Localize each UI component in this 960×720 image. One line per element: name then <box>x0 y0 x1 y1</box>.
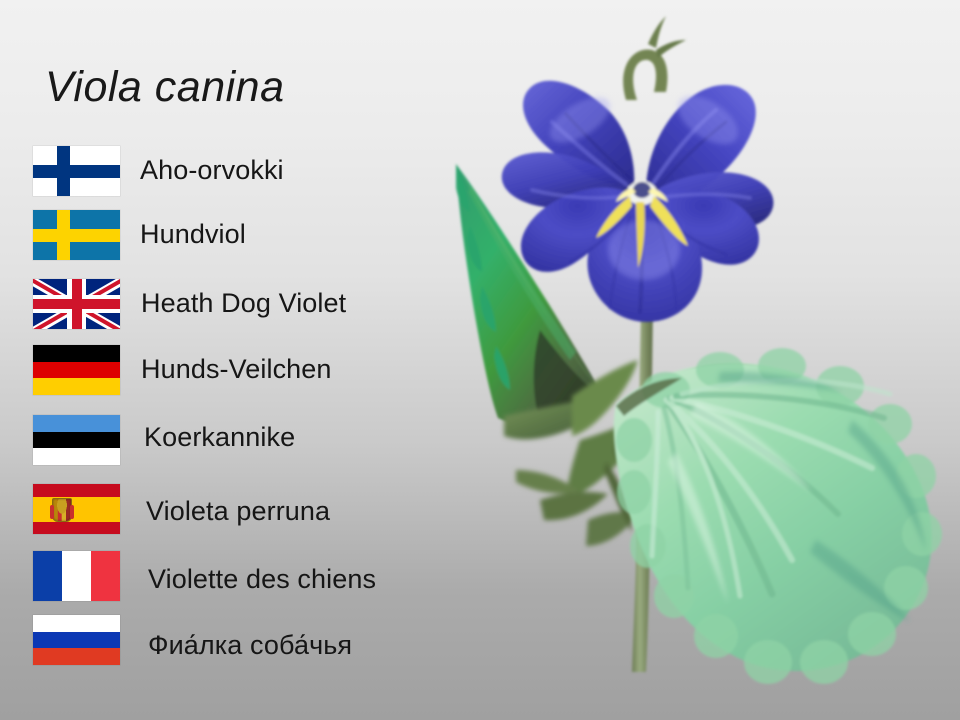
list-item: Violette des chiens <box>0 548 430 604</box>
list-item: Violeta perruna <box>0 481 430 537</box>
slide-canvas: Viola canina Aho-orvokki Hundviol <box>0 0 960 720</box>
list-item: Aho-orvokki <box>0 143 430 199</box>
vernacular-name-label: Koerkannike <box>144 422 295 453</box>
flag-estonia-icon <box>33 415 120 465</box>
vernacular-name-label: Aho-orvokki <box>140 155 284 186</box>
list-item: Hunds-Veilchen <box>0 342 430 398</box>
vernacular-name-label: Violette des chiens <box>148 564 376 595</box>
flag-united-kingdom-icon <box>33 279 120 329</box>
vernacular-name-label: Hunds-Veilchen <box>141 354 332 385</box>
flag-germany-icon <box>33 345 120 395</box>
vernacular-name-label: Violeta perruna <box>146 496 330 527</box>
flag-finland-icon <box>33 146 120 196</box>
flag-france-icon <box>33 551 120 601</box>
flag-sweden-icon <box>33 210 120 260</box>
list-item: Фиа́лка соба́чья <box>0 612 430 668</box>
violet-flower <box>502 81 774 322</box>
vernacular-name-label: Heath Dog Violet <box>141 288 346 319</box>
flag-russia-icon <box>33 615 120 665</box>
vernacular-name-label: Hundviol <box>140 219 246 250</box>
lower-leaf <box>614 348 942 684</box>
list-item: Hundviol <box>0 207 430 263</box>
list-item: Koerkannike <box>0 412 430 468</box>
list-item: Heath Dog Violet <box>0 276 430 332</box>
flag-spain-icon <box>33 484 120 534</box>
vernacular-name-label: Фиа́лка соба́чья <box>148 630 352 661</box>
vernacular-name-list: Aho-orvokki Hundviol Heath Dog Violet <box>0 0 430 720</box>
viola-canina-illustration <box>420 0 960 720</box>
